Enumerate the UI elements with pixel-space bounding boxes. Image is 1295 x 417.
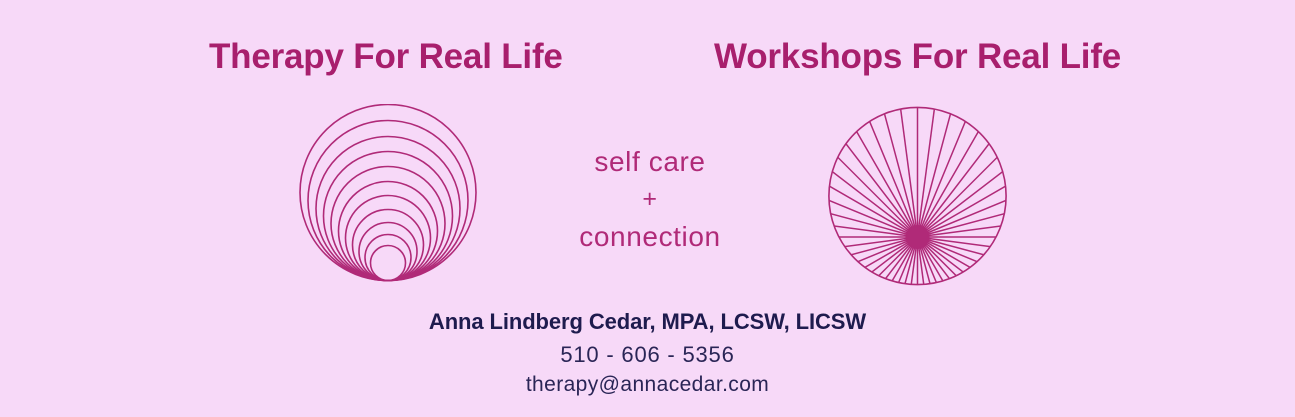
sunburst-svg <box>824 106 1012 288</box>
tagline-plus: + <box>530 181 770 217</box>
heading-therapy-for-real-life: Therapy For Real Life <box>209 39 563 74</box>
heading-workshops-for-real-life: Workshops For Real Life <box>714 39 1121 74</box>
contact-name: Anna Lindberg Cedar, MPA, LCSW, LICSW <box>0 307 1295 337</box>
contact-block: Anna Lindberg Cedar, MPA, LCSW, LICSW 51… <box>0 307 1295 400</box>
sunburst-icon <box>824 106 1012 288</box>
sunburst-core <box>906 225 930 249</box>
tagline-line-1: self care <box>530 142 770 181</box>
tagline: self care + connection <box>530 142 770 256</box>
banner: Therapy For Real Life Workshops For Real… <box>0 0 1295 417</box>
tagline-line-2: connection <box>530 217 770 256</box>
contact-phone[interactable]: 510 - 606 - 5356 <box>0 339 1295 370</box>
nested-rings-icon <box>296 104 482 284</box>
sunburst-rays <box>824 106 1012 288</box>
nested-rings-svg <box>296 104 482 284</box>
contact-email[interactable]: therapy@annacedar.com <box>0 370 1295 400</box>
